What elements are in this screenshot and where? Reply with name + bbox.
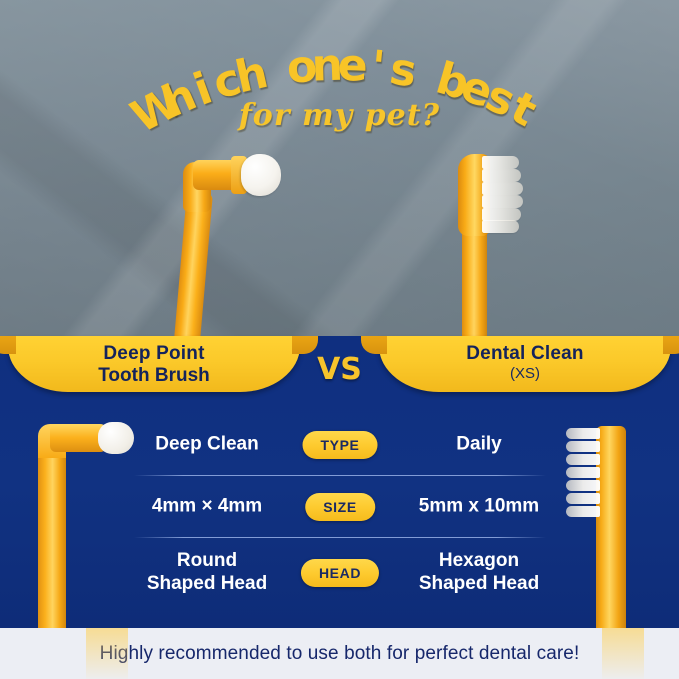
product-right-name-line1: Dental Clean: [379, 343, 671, 365]
brush-handle: [596, 426, 626, 638]
comparison-row: RoundShaped HeadHEADHexagonShaped Head: [138, 538, 542, 608]
bristle-head-toothbrush-icon: [438, 148, 558, 338]
panel-brush-right-icon: [548, 418, 668, 634]
product-banner-left: Deep Point Tooth Brush: [8, 336, 300, 392]
comparison-left-value: RoundShaped Head: [132, 550, 282, 596]
attribute-pill-size[interactable]: SIZE: [305, 493, 375, 521]
photo-background: [0, 0, 679, 350]
headline-subtext: for my pet?: [0, 98, 679, 133]
angled-rubber-tip-toothbrush-icon: [163, 148, 283, 338]
footer-bar: Highly recommended to use both for perfe…: [0, 628, 679, 679]
brush-white-tip: [241, 154, 281, 196]
comparison-right-value: 5mm x 10mm: [404, 496, 554, 519]
comparison-right-value: HexagonShaped Head: [404, 550, 554, 596]
bristle-tuft: [482, 195, 523, 208]
bristle-tuft: [566, 506, 600, 517]
comparison-right-value: Daily: [404, 434, 554, 457]
bristle-tuft: [482, 169, 521, 182]
brush-handle: [174, 191, 213, 343]
attribute-pill-type[interactable]: TYPE: [303, 431, 378, 459]
brush-shaft: [38, 446, 66, 638]
bristle-tuft: [566, 480, 600, 491]
bristle-tuft: [482, 182, 523, 195]
attribute-pill-head[interactable]: HEAD: [301, 559, 379, 587]
bristle-tuft: [566, 428, 600, 439]
bristle-tuft: [482, 156, 519, 169]
bristle-tuft: [566, 493, 600, 504]
brush-white-tip: [98, 422, 134, 454]
bristle-tuft: [566, 454, 600, 465]
comparison-row: Deep CleanTYPEDaily: [138, 414, 542, 476]
bristle-tuft: [482, 220, 519, 233]
panel-brush-left-icon: [30, 418, 150, 634]
product-left-name-line2: Tooth Brush: [8, 365, 300, 387]
bristle-tuft: [566, 467, 600, 478]
comparison-left-value: 4mm × 4mm: [132, 496, 282, 519]
bristle-tuft: [566, 441, 600, 452]
comparison-left-value: Deep Clean: [132, 434, 282, 457]
infographic-canvas: Which one's best for my pet? Deep Point …: [0, 0, 679, 679]
product-left-name-line1: Deep Point: [8, 343, 300, 365]
footer-text: Highly recommended to use both for perfe…: [100, 643, 580, 665]
comparison-row: 4mm × 4mmSIZE5mm x 10mm: [138, 476, 542, 538]
product-right-subtitle: (XS): [379, 365, 671, 383]
footer-glow-right: [602, 628, 644, 679]
comparison-rows: Deep CleanTYPEDaily4mm × 4mmSIZE5mm x 10…: [138, 414, 542, 608]
